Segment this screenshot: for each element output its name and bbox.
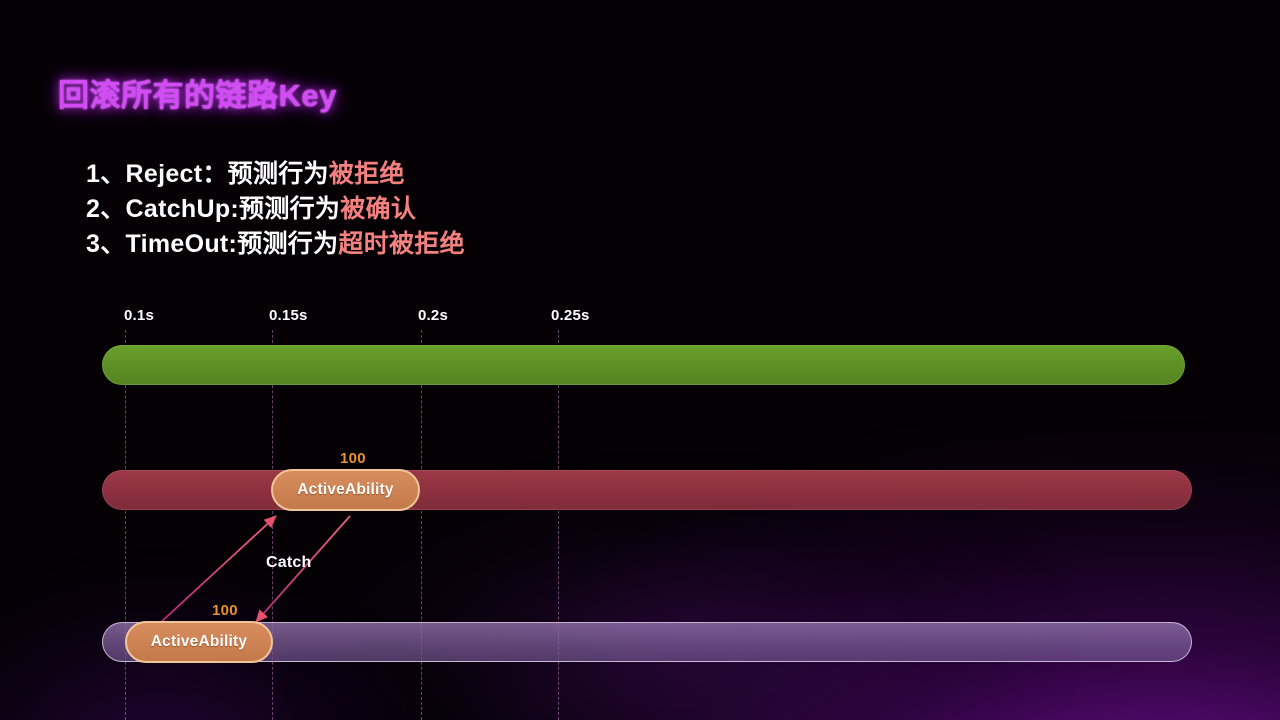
bullet-index: 1、 <box>86 160 126 188</box>
list-item: 3、TimeOut:预测行为超时被拒绝 <box>86 227 786 262</box>
bullet-highlight: 被拒绝 <box>329 160 405 188</box>
pill-active-ability-predicted[interactable]: ActiveAbility <box>271 469 420 511</box>
timeline-bar-predicted <box>102 470 1192 510</box>
bullet-index: 2、 <box>86 195 126 223</box>
bullet-highlight: 超时被拒绝 <box>338 230 465 258</box>
axis-tick-label: 0.25s <box>551 307 590 324</box>
axis-tick-label: 0.1s <box>124 307 154 324</box>
pill-active-ability-client[interactable]: ActiveAbility <box>125 621 273 663</box>
axis-tick-label: 0.15s <box>269 307 308 324</box>
bullet-term: Reject： <box>126 160 228 188</box>
bullet-highlight: 被确认 <box>340 195 416 223</box>
list-item: 1、Reject：预测行为被拒绝 <box>86 157 786 192</box>
bullet-text: 预测行为 <box>239 195 340 223</box>
axis-tick-label: 0.2s <box>418 307 448 324</box>
bullet-term: CatchUp: <box>126 195 240 223</box>
bullet-text: 预测行为 <box>228 160 329 188</box>
bullet-index: 3、 <box>86 230 126 258</box>
pill-count-label-predicted: 100 <box>340 450 366 467</box>
pill-count-label-client: 100 <box>212 602 238 619</box>
timeline-bar-server <box>102 345 1185 385</box>
slide-title: 回滚所有的链路Key <box>58 70 337 115</box>
list-item: 2、CatchUp:预测行为被确认 <box>86 192 786 227</box>
slide-canvas: 回滚所有的链路Key 1、Reject：预测行为被拒绝 2、CatchUp:预测… <box>0 0 1280 720</box>
bullet-text: 预测行为 <box>237 230 338 258</box>
bullet-term: TimeOut: <box>126 230 238 258</box>
annotation-catch: Catch <box>266 554 311 572</box>
bullet-list: 1、Reject：预测行为被拒绝 2、CatchUp:预测行为被确认 3、Tim… <box>86 157 786 262</box>
